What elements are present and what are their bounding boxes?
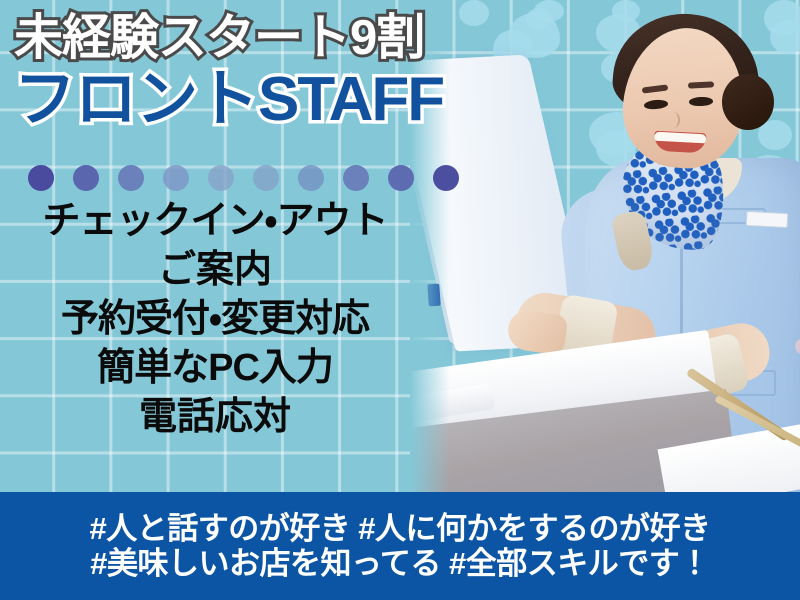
duty-item: 予約受付・変更対応 <box>0 298 430 341</box>
name-tag <box>746 211 789 228</box>
duty-item: ご案内 <box>0 249 430 292</box>
headline-title: フロントSTAFF <box>14 68 534 132</box>
divider-dot <box>433 165 459 191</box>
hair-bun <box>722 74 774 130</box>
divider-dot <box>163 165 189 191</box>
dot-divider <box>28 165 459 191</box>
headline-title-en: STAFF <box>258 65 443 134</box>
divider-dot <box>208 165 234 191</box>
divider-dot <box>73 165 99 191</box>
duty-item: 電話応対 <box>0 396 430 439</box>
hashtag-line-2: #美味しいお店を知ってる #全部スキルです！ <box>90 547 710 580</box>
divider-dot <box>118 165 144 191</box>
divider-dot <box>388 165 414 191</box>
headline-title-jp: フロント <box>14 65 258 134</box>
teeth <box>654 132 706 144</box>
headline-block: 未経験スタート9割 フロントSTAFF <box>14 14 534 132</box>
hashtag-line-1: #人と話すのが好き #人に何かをするのが好き <box>89 512 710 545</box>
nose <box>668 112 680 128</box>
divider-dot <box>298 165 324 191</box>
divider-dot <box>28 165 54 191</box>
divider-dot <box>343 165 369 191</box>
duty-item: 簡単なPC入力 <box>0 347 430 390</box>
duty-item: チェックイン・アウト <box>0 200 430 243</box>
divider-dot <box>253 165 279 191</box>
hashtag-banner: #人と話すのが好き #人に何かをするのが好き #美味しいお店を知ってる #全部ス… <box>0 492 800 600</box>
duty-list: チェックイン・アウト ご案内 予約受付・変更対応 簡単なPC入力 電話応対 <box>0 200 430 439</box>
left-hand <box>505 308 568 356</box>
headline-eyebrow: 未経験スタート9割 <box>14 14 534 64</box>
recruitment-banner: 未経験スタート9割 フロントSTAFF チェックイン・アウト ご案内 予約受付・… <box>0 0 800 600</box>
